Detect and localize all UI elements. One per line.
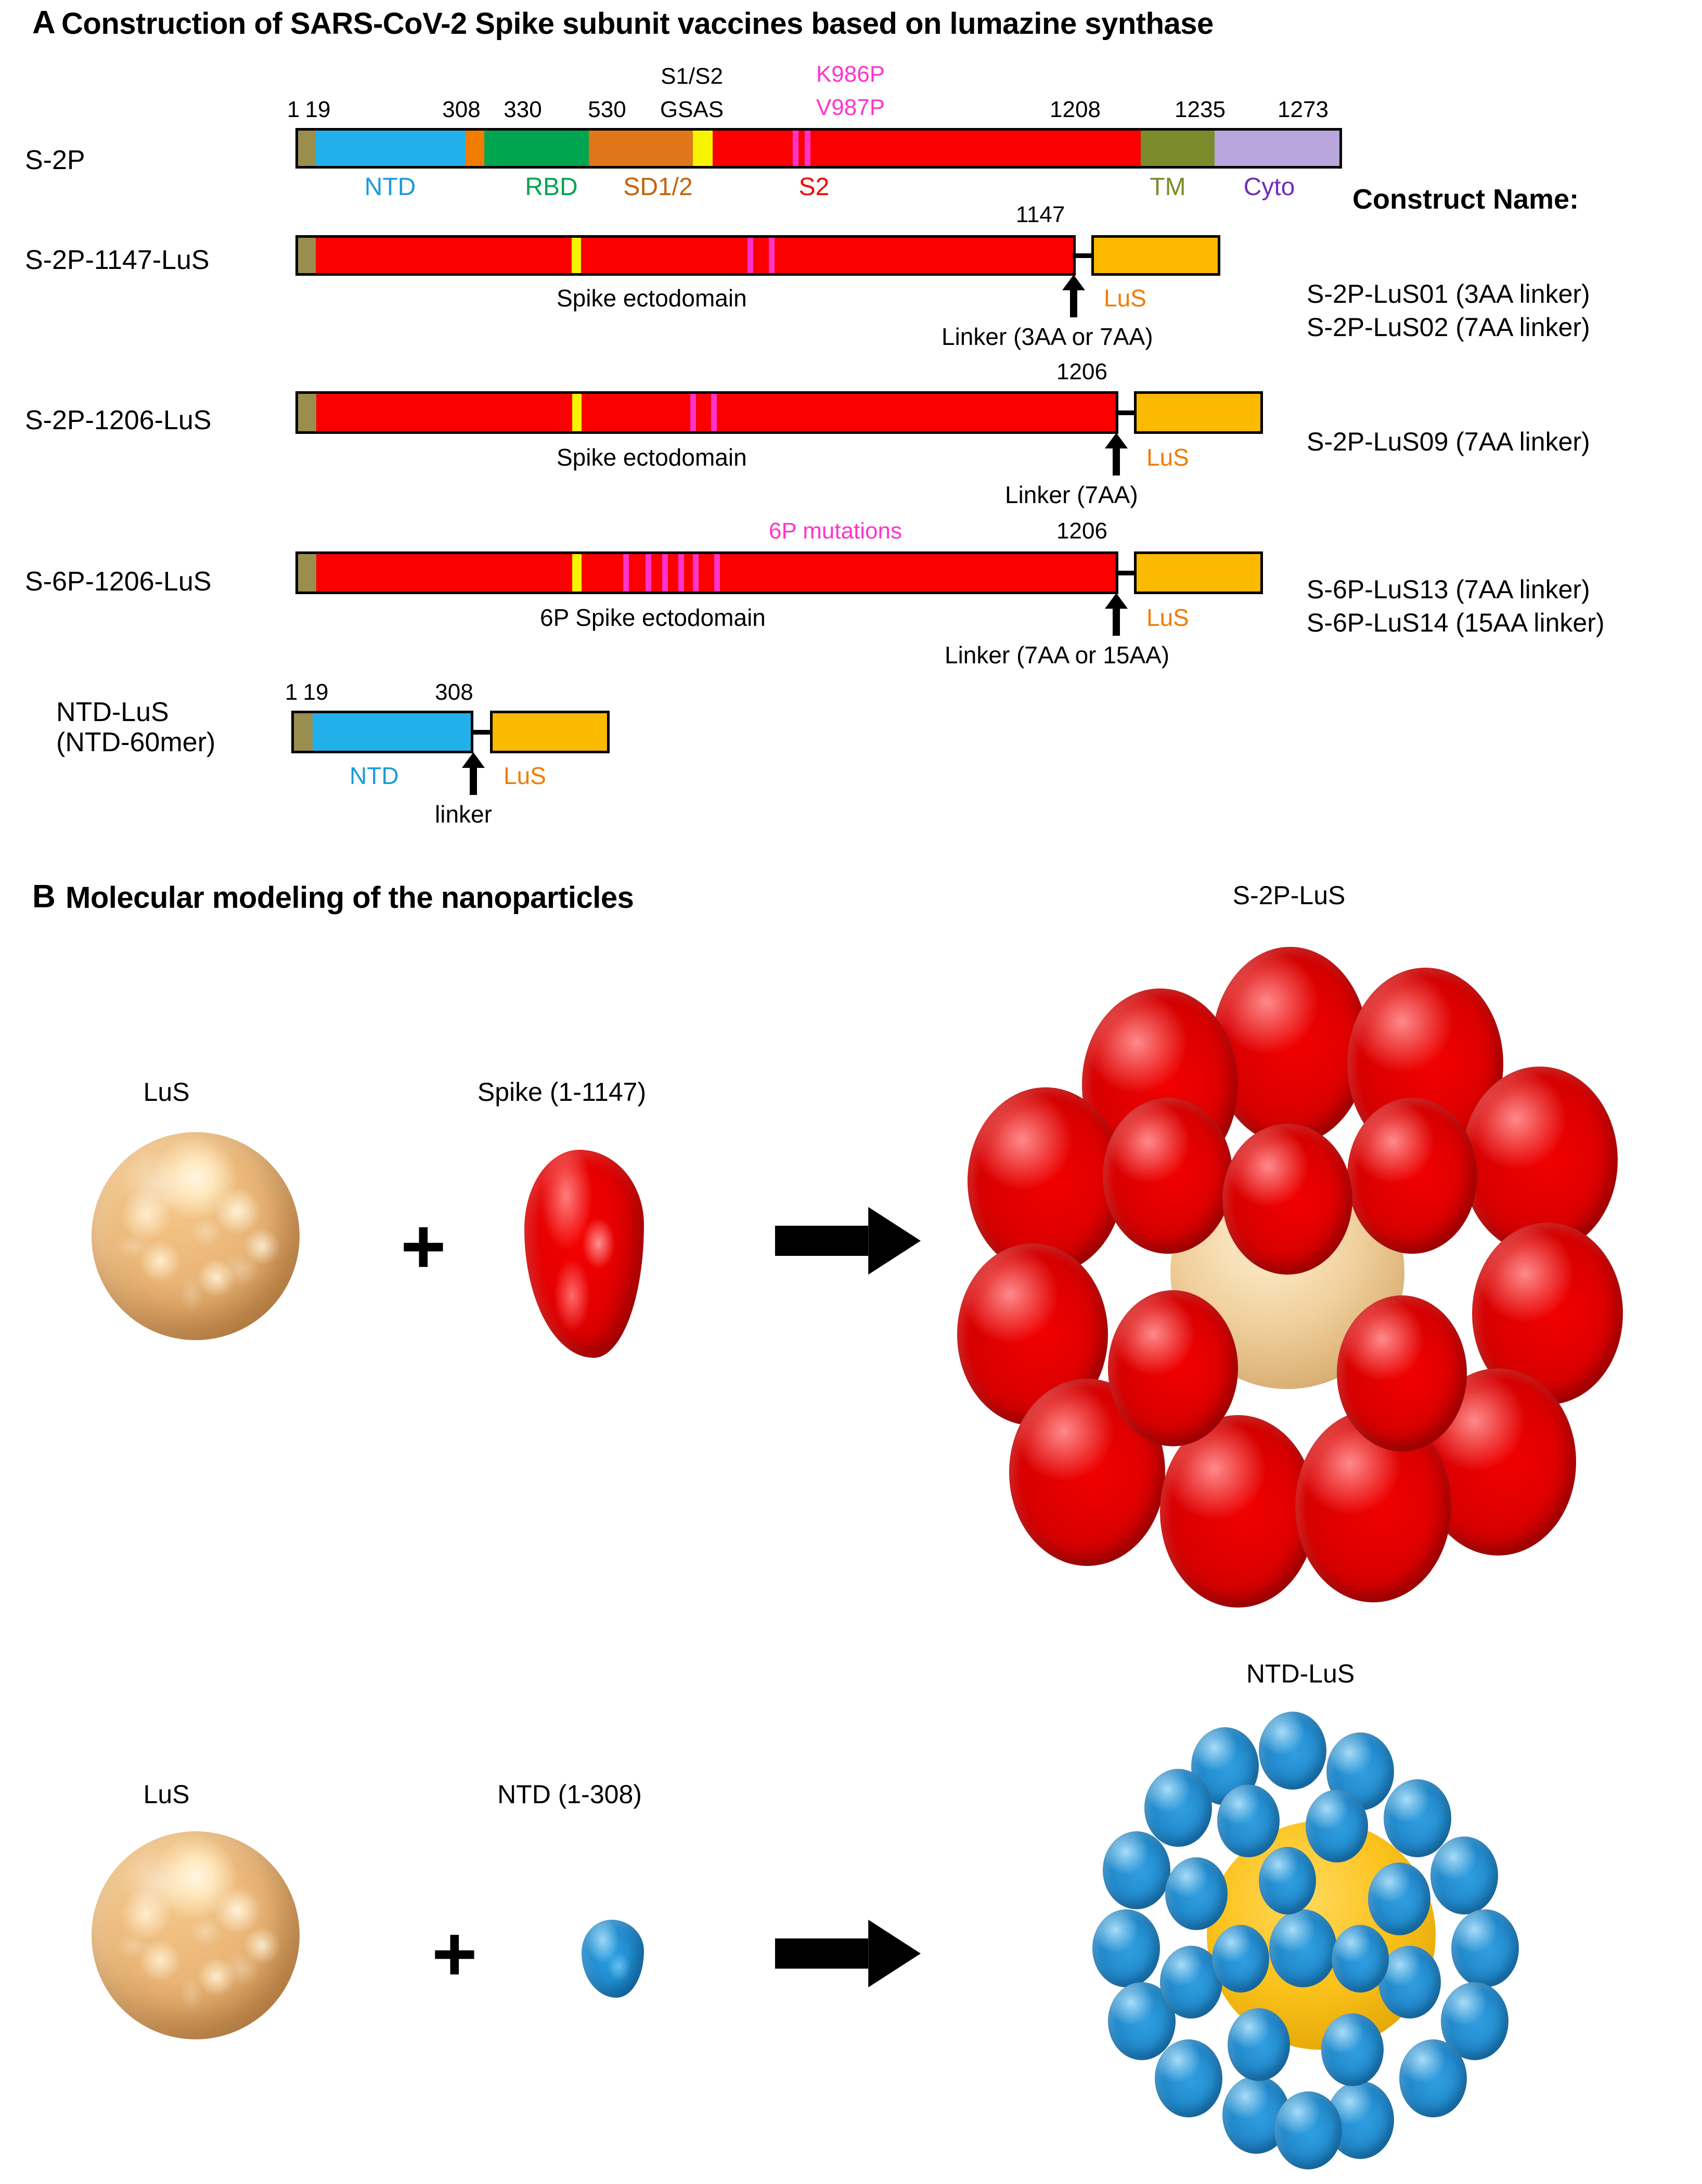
plus-sign-row2: +: [432, 1915, 478, 1993]
spike-monomer-model: [524, 1150, 644, 1358]
panel-b-title: Molecular modeling of the nanoparticles: [66, 880, 634, 915]
protein-bar-ntd-lus: [291, 711, 473, 753]
linker-arrow-row4: [1104, 593, 1129, 636]
lus-label-row3: LuS: [1146, 443, 1189, 471]
segment-lus: [1094, 238, 1218, 273]
domain-label-rbd: RBD: [499, 173, 603, 201]
mutations-label-6p: 6P mutations: [747, 518, 924, 544]
ntd-lobe: [1384, 1779, 1451, 1857]
segment-linker-ntd-rbd: [466, 131, 484, 166]
ntd-lobe: [1217, 1784, 1280, 1857]
row-label-ntd-lus-line1: NTD-LuS: [56, 697, 215, 727]
mutation-mark-cleavage-site: [572, 394, 582, 431]
tick-330: 330: [494, 97, 551, 123]
domain-label-sd12: SD1/2: [598, 173, 718, 201]
ntd-lobe: [1306, 1790, 1368, 1862]
mutation-mark-6p-1: [623, 554, 629, 592]
mutation-mark-v987p: [711, 394, 717, 431]
lus-sphere-row2: [92, 1831, 300, 2039]
segment-ntd: [313, 713, 471, 751]
domain-label-s2: S2: [770, 173, 858, 201]
lus-box-row3: [1134, 391, 1263, 434]
ntd-lobe: [1092, 1909, 1160, 1987]
spike-lobe: [1222, 1124, 1352, 1275]
label-lus-row1: LuS: [68, 1077, 265, 1107]
row-label-ntd-lus-line2: (NTD-60mer): [56, 727, 215, 757]
protein-bar-s2p-1206: [295, 391, 1118, 434]
ntd-lobe: [1269, 1909, 1337, 1987]
row-label-s2p-1206-lus: S-2P-1206-LuS: [25, 405, 211, 436]
mutation-mark-cleavage-site: [572, 238, 581, 273]
segment-sd12: [589, 131, 693, 166]
cleavage-label-s1s2: S1/S2: [640, 63, 744, 89]
row-label-s2p: S-2P: [25, 145, 85, 176]
protein-bar-s2p-1147: [295, 235, 1076, 276]
tick-1206-row4: 1206: [1040, 518, 1124, 544]
domain-label-cyto: Cyto: [1212, 173, 1326, 201]
segment-s2: [713, 131, 1141, 166]
panel-b-letter: B: [32, 878, 55, 915]
label-lus-row2: LuS: [68, 1779, 265, 1809]
segment-rbd: [484, 131, 588, 166]
spike-lobe: [1212, 947, 1368, 1145]
row-label-s6p-1206-lus: S-6P-1206-LuS: [25, 566, 211, 597]
mutation-label-k986p: K986P: [791, 61, 910, 87]
mutation-mark-6p-5: [693, 554, 699, 592]
ntd-lobe: [1144, 1769, 1212, 1847]
segment-signal-peptide: [298, 131, 316, 166]
tick-1208: 1208: [1041, 97, 1109, 123]
linker-arrow-row5: [461, 752, 486, 795]
linker-arrow-row2: [1061, 275, 1086, 317]
assembly-arrow-row2: [775, 1920, 921, 1987]
spike-lobe: [1103, 1098, 1233, 1254]
mutation-mark-v987p: [805, 131, 810, 166]
tick-19-row5: 19: [298, 679, 334, 705]
construct-name-lus09: S-2P-LuS09 (7AA linker): [1307, 427, 1590, 457]
ntd-lobe: [1103, 1831, 1170, 1909]
segment-lus: [1137, 394, 1260, 431]
mutation-mark-k986p: [690, 394, 696, 431]
assembly-arrow-row1: [775, 1207, 921, 1275]
lus-label-row4: LuS: [1146, 603, 1189, 632]
ntd-lobe: [1259, 1712, 1326, 1790]
row-label-ntd-lus: NTD-LuS (NTD-60mer): [56, 697, 215, 757]
segment-6p-spike-ectodomain: [316, 554, 1116, 592]
mutation-mark-cleavage-site: [572, 554, 582, 592]
ntd-lobe: [1451, 1909, 1519, 1987]
tick-19: 19: [300, 97, 336, 123]
ntd-lobe: [1430, 1836, 1498, 1915]
nanoparticle-ntd-lus: [1087, 1691, 1555, 2175]
lus-box-row5: [490, 711, 610, 753]
linker-label-row3: Linker (7AA): [1005, 481, 1138, 509]
tick-1147: 1147: [999, 202, 1082, 228]
ntd-lobe: [1332, 1925, 1389, 1993]
label-ntd-1-308: NTD (1-308): [458, 1779, 681, 1809]
tick-308-row5: 308: [426, 679, 483, 705]
construct-name-lus14: S-6P-LuS14 (15AA linker): [1307, 608, 1605, 638]
tick-308: 308: [433, 97, 490, 123]
mutation-mark-v987p: [769, 238, 775, 273]
protein-bar-s6p-1206: [295, 551, 1118, 594]
lus-sphere-row1: [92, 1132, 300, 1340]
ecto-label-row3: Spike ectodomain: [557, 443, 747, 471]
ecto-label-row2: Spike ectodomain: [557, 284, 747, 312]
linker-label-row5: linker: [435, 800, 492, 828]
ntd-lobe: [1368, 1862, 1430, 1935]
segment-cleavage-site: [693, 131, 713, 166]
ecto-label-row4: 6P Spike ectodomain: [540, 603, 766, 632]
segment-signal-peptide: [298, 238, 316, 273]
spike-lobe: [1337, 1295, 1467, 1451]
lus-box-row2: [1091, 235, 1220, 276]
mutation-label-v987p: V987P: [791, 95, 910, 121]
ntd-monomer-model: [582, 1920, 644, 1998]
linker-label-row2: Linker (3AA or 7AA): [942, 323, 1153, 351]
mutation-mark-6p-2: [646, 554, 651, 592]
tick-1206-row3: 1206: [1040, 359, 1124, 385]
protein-bar-s2p: [295, 128, 1342, 169]
row-label-s2p-1147-lus: S-2P-1147-LuS: [25, 245, 210, 276]
linker-label-row4: Linker (7AA or 15AA): [945, 641, 1169, 669]
segment-lus: [1137, 554, 1260, 592]
lus-box-row4: [1134, 551, 1263, 594]
plus-sign-row1: +: [401, 1207, 446, 1285]
ntd-lobe: [1228, 2008, 1290, 2081]
tick-1273: 1273: [1269, 97, 1337, 123]
ntd-lobe: [1399, 2039, 1467, 2117]
tick-530: 530: [578, 97, 636, 123]
ntd-lobe: [1155, 2039, 1222, 2117]
ntd-lobe: [1259, 1847, 1316, 1915]
mutation-mark-6p-4: [678, 554, 684, 592]
tick-1235: 1235: [1166, 97, 1234, 123]
segment-ntd: [316, 131, 466, 166]
linker-arrow-row3: [1104, 433, 1129, 476]
segment-signal-peptide: [298, 554, 316, 592]
segment-spike-ectodomain: [316, 394, 1116, 431]
spike-lobe: [1108, 1290, 1238, 1446]
domain-label-ntd: NTD: [333, 173, 447, 201]
construct-name-header: Construct Name:: [1352, 183, 1579, 215]
lus-label-row2: LuS: [1104, 284, 1146, 312]
ntd-lobe: [1165, 1857, 1228, 1930]
ntd-lobe: [1321, 2013, 1384, 2086]
panel-a-title: Construction of SARS-CoV-2 Spike subunit…: [61, 6, 1214, 41]
mutation-mark-k986p: [793, 131, 798, 166]
segment-signal-peptide: [294, 713, 313, 751]
nanoparticle-s2p-lus: [952, 931, 1628, 1618]
construct-name-lus13: S-6P-LuS13 (7AA linker): [1307, 574, 1590, 605]
ntd-lobe: [1274, 2091, 1342, 2169]
construct-name-lus01: S-2P-LuS01 (3AA linker): [1307, 279, 1590, 309]
cleavage-label-gsas: GSAS: [640, 97, 744, 123]
segment-tm: [1141, 131, 1215, 166]
nanoparticle-title-ntd-lus: NTD-LuS: [1160, 1659, 1441, 1689]
segment-cyto: [1215, 131, 1339, 166]
mutation-mark-6p-6: [714, 554, 720, 592]
spike-lobe: [1347, 1098, 1477, 1254]
domain-label-ntd-row5: NTD: [350, 762, 399, 790]
mutation-mark-k986p: [747, 238, 753, 273]
label-spike-1-1147: Spike (1-1147): [437, 1077, 687, 1107]
mutation-mark-6p-3: [662, 554, 668, 592]
lus-label-row5: LuS: [504, 762, 546, 790]
domain-label-tm: TM: [1124, 173, 1212, 201]
nanoparticle-title-s2p-lus: S-2P-LuS: [1123, 880, 1455, 910]
segment-signal-peptide: [298, 394, 316, 431]
segment-lus: [493, 713, 607, 751]
panel-a-letter: A: [32, 4, 55, 41]
construct-name-lus02: S-2P-LuS02 (7AA linker): [1307, 312, 1590, 342]
segment-spike-ectodomain: [316, 238, 1073, 273]
ntd-lobe: [1212, 1925, 1269, 1993]
